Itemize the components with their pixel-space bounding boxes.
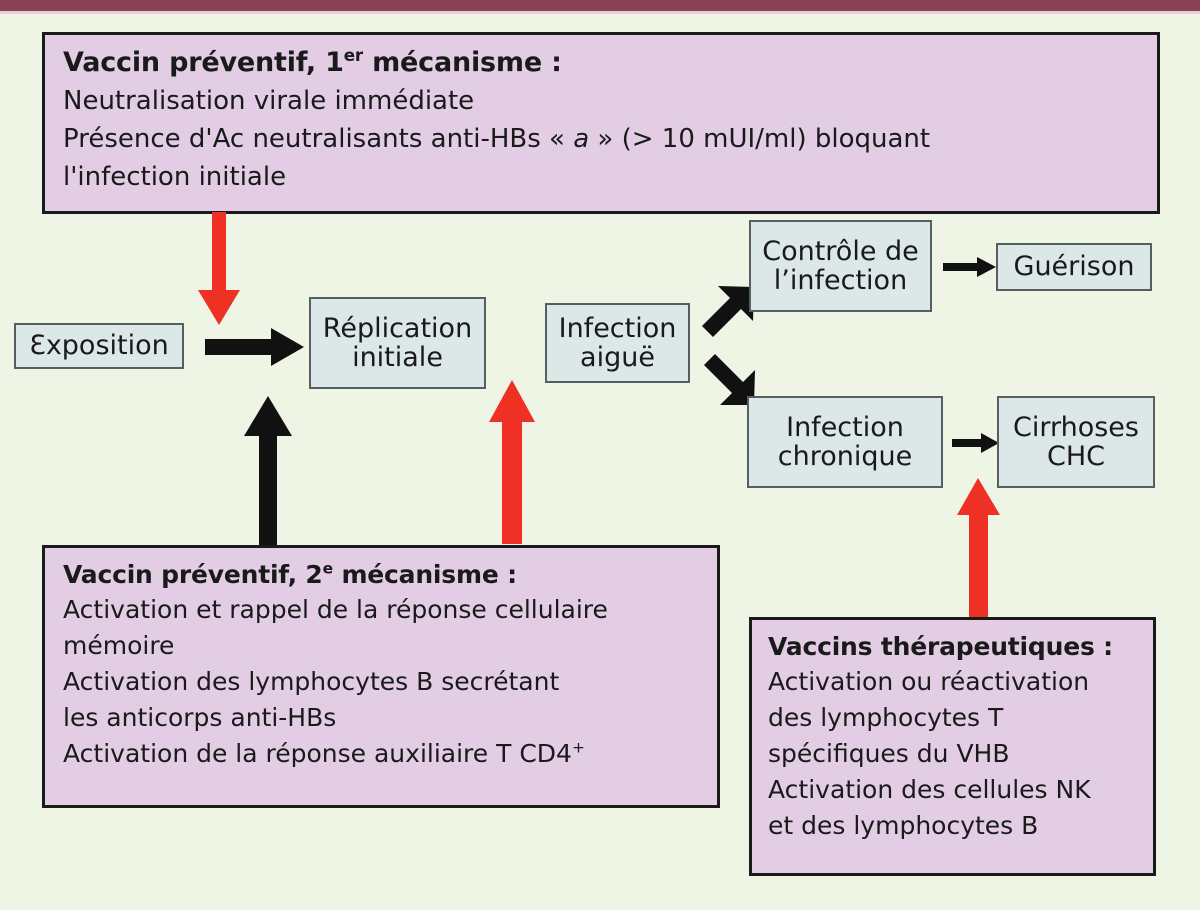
box-infection-aigue-line-1: Infection	[559, 314, 677, 343]
box-replication-line-1: Réplication	[323, 314, 472, 343]
black-arrow-small-right-shape-2	[952, 433, 999, 453]
box-vaccin-preventif-2-title: Vaccin préventif, 2e mécanisme :	[63, 558, 717, 592]
arrow-preventif2-to-replication-red	[484, 380, 540, 545]
arrow-controle-to-guerison	[943, 256, 997, 278]
line-5-text: Activation de la réponse auxiliaire T CD…	[63, 739, 572, 768]
arrow-chronique-to-cirrhoses	[952, 432, 1000, 454]
box-infection-chronique: Infection chronique	[747, 396, 943, 488]
title-text-2: Vaccin préventif, 2	[63, 560, 323, 589]
arrow-therapeutique-to-chronique	[953, 478, 1003, 618]
box-vaccin-preventif-1: Vaccin préventif, 1er mécanisme : Neutra…	[42, 32, 1160, 214]
box-guerison-label: Guérison	[1014, 252, 1135, 281]
box-vaccin-preventif-2-line-5: Activation de la réponse auxiliaire T CD…	[63, 736, 717, 772]
box-vaccins-therapeutiques-line-3: spécifiques du VHB	[768, 736, 1153, 772]
title-tail-2: mécanisme :	[333, 560, 517, 589]
accent-bar-top	[0, 0, 1200, 11]
title-tail: mécanisme :	[363, 47, 562, 78]
red-arrow-up-shape	[489, 380, 535, 544]
box-chronique-line-2: chronique	[778, 442, 912, 471]
box-exposition-label: Ɛxposition	[29, 331, 169, 360]
accent-bar-underline	[0, 11, 1200, 14]
arrow-infection-aigue-to-controle	[694, 285, 756, 347]
line-5-superscript-plus: +	[572, 738, 585, 756]
box-infection-aigue-line-2: aiguë	[580, 343, 655, 372]
box-vaccin-preventif-2-line-1: Activation et rappel de la réponse cellu…	[63, 592, 717, 628]
box-vaccin-preventif-2-line-2: mémoire	[63, 628, 717, 664]
box-controle-line-1: Contrôle de	[762, 237, 919, 266]
box-vaccin-preventif-2-line-3: Activation des lymphocytes B secrétant	[63, 664, 717, 700]
box-vaccins-therapeutiques-line-5: et des lymphocytes B	[768, 808, 1153, 844]
box-cirrhoses-line-1: Cirrhoses	[1013, 413, 1139, 442]
red-arrow-up-shape-2	[957, 478, 1000, 617]
box-vaccins-therapeutiques-line-1: Activation ou réactivation	[768, 664, 1153, 700]
box-vaccins-therapeutiques-line-4: Activation des cellules NK	[768, 772, 1153, 808]
red-arrow-down-shape	[198, 212, 240, 325]
arrow-exposition-to-replication	[205, 328, 305, 366]
black-diagonal-arrow-up-shape	[702, 286, 754, 337]
box-vaccin-preventif-1-title: Vaccin préventif, 1er mécanisme :	[63, 45, 1157, 81]
box-guerison: Guérison	[996, 243, 1152, 291]
line-2-italic-antigen: a	[573, 124, 589, 154]
arrow-preventif1-to-replication	[196, 212, 242, 328]
box-vaccin-preventif-1-line-3: l'infection initiale	[63, 159, 1157, 197]
box-exposition: Ɛxposition	[14, 323, 184, 369]
box-vaccin-preventif-2: Vaccin préventif, 2e mécanisme : Activat…	[42, 545, 720, 808]
box-replication-line-2: initiale	[352, 343, 443, 372]
box-vaccins-therapeutiques-line-2: des lymphocytes T	[768, 700, 1153, 736]
line-2-prefix: Présence d'Ac neutralisants anti-HBs «	[63, 124, 573, 154]
box-vaccins-therapeutiques-title: Vaccins thérapeutiques :	[768, 630, 1153, 664]
box-infection-aigue: Infection aiguë	[545, 303, 690, 383]
box-controle-line-2: l’infection	[774, 266, 907, 295]
arrow-preventif2-to-replication-black	[240, 396, 296, 546]
black-arrow-right-shape	[205, 328, 304, 366]
figure-canvas: Vaccin préventif, 1er mécanisme : Neutra…	[0, 0, 1200, 910]
box-cirrhoses-line-2: CHC	[1047, 442, 1105, 471]
title-superscript: er	[344, 45, 363, 65]
box-controle-infection: Contrôle de l’infection	[749, 220, 932, 312]
box-cirrhoses-chc: Cirrhoses CHC	[997, 396, 1155, 488]
box-vaccin-preventif-2-line-4: les anticorps anti-HBs	[63, 700, 717, 736]
line-2-suffix: » (> 10 mUI/ml) bloquant	[589, 124, 930, 154]
box-vaccin-preventif-1-line-2: Présence d'Ac neutralisants anti-HBs « a…	[63, 121, 1157, 159]
title-superscript-2: e	[323, 560, 333, 578]
black-arrow-small-right-shape	[943, 257, 996, 277]
black-arrow-up-shape	[244, 396, 292, 545]
title-text: Vaccin préventif, 1	[63, 47, 344, 78]
box-vaccin-preventif-1-line-1: Neutralisation virale immédiate	[63, 83, 1157, 121]
box-chronique-line-1: Infection	[786, 413, 904, 442]
box-replication-initiale: Réplication initiale	[309, 297, 486, 389]
box-vaccins-therapeutiques: Vaccins thérapeutiques : Activation ou r…	[749, 617, 1156, 876]
